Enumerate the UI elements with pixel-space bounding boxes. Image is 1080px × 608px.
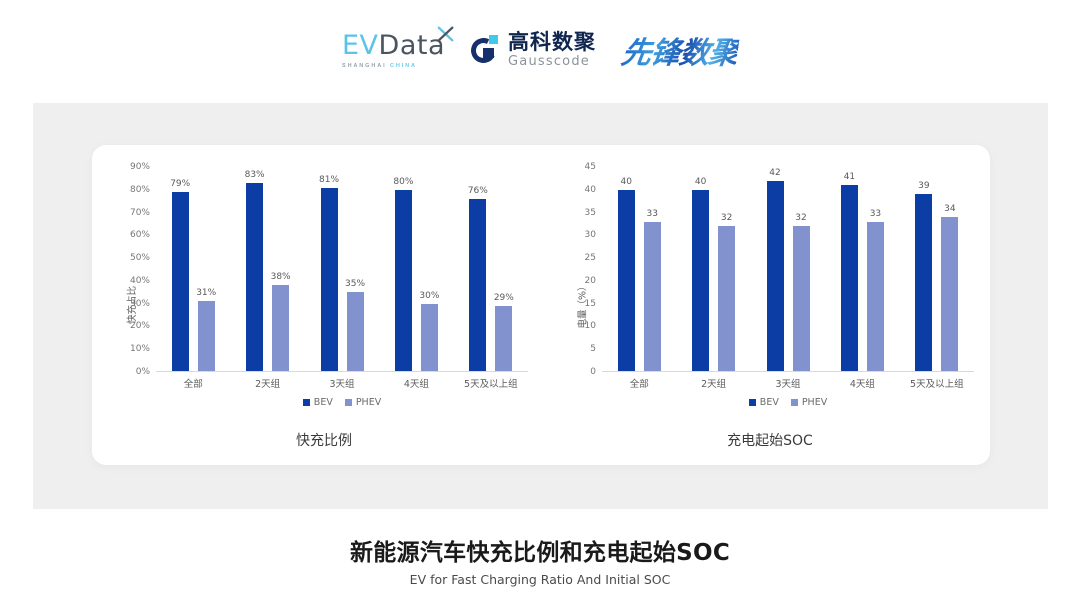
y-tick-label: 40% [130, 276, 150, 286]
x-tick-label: 5天及以上组 [900, 376, 974, 390]
bar-fill [767, 181, 784, 372]
chart-left-plot: 90%80%70%60%50%40%30%20%10%0% 79%31%83%3… [156, 167, 528, 372]
chart-right-xaxis: 全部2天组3天组4天组5天及以上组 [602, 376, 974, 390]
bar-bev[interactable]: 81% [321, 188, 338, 373]
x-tick-label: 5天及以上组 [454, 376, 528, 390]
bar-value-label: 41 [844, 172, 855, 182]
x-tick-label: 3天组 [751, 376, 825, 390]
bar-value-label: 31% [196, 288, 216, 298]
bar-value-label: 79% [170, 179, 190, 189]
bar-fill [718, 226, 735, 372]
legend-swatch-icon [345, 399, 352, 406]
y-tick-label: 70% [130, 208, 150, 218]
bar-group: 3934 [900, 167, 974, 372]
x-tick-label: 全部 [602, 376, 676, 390]
chart-left-bars: 79%31%83%38%81%35%80%30%76%29% [156, 167, 528, 372]
chart-left-legend: BEVPHEV [156, 397, 528, 408]
bar-value-label: 39 [918, 181, 929, 191]
chart-right-legend: BEVPHEV [602, 397, 974, 408]
slide-page: EVData SHANGHAI CHINA 高科数聚 Gausscode 先锋数… [0, 0, 1080, 608]
logo-xianfeng: 先锋数聚 [619, 28, 741, 72]
legend-swatch-icon [791, 399, 798, 406]
evdata-data-text: Data [379, 30, 445, 61]
evdata-tagline-china: CHINA [390, 63, 417, 69]
bar-fill [246, 183, 263, 372]
gausscode-c-mark-icon [471, 35, 501, 65]
legend-item-bev[interactable]: BEV [749, 397, 779, 408]
bar-group: 80%30% [379, 167, 453, 372]
bar-value-label: 32 [721, 213, 732, 223]
bar-fill [495, 306, 512, 372]
x-tick-label: 3天组 [305, 376, 379, 390]
y-tick-label: 25 [585, 253, 596, 263]
bar-phev[interactable]: 35% [347, 292, 364, 372]
bar-group: 76%29% [454, 167, 528, 372]
y-tick-label: 0 [590, 367, 596, 377]
page-title: 新能源汽车快充比例和充电起始SOC [0, 533, 1080, 567]
bar-group: 4033 [602, 167, 676, 372]
bar-phev[interactable]: 30% [421, 304, 438, 372]
y-tick-label: 45 [585, 162, 596, 172]
gausscode-en-text: Gausscode [508, 55, 596, 68]
x-tick-label: 4天组 [825, 376, 899, 390]
y-tick-label: 30 [585, 230, 596, 240]
bar-phev[interactable]: 34 [941, 217, 958, 372]
bar-phev[interactable]: 32 [718, 226, 735, 372]
bar-fill [867, 222, 884, 372]
legend-item-phev[interactable]: PHEV [345, 397, 381, 408]
bar-group: 4032 [676, 167, 750, 372]
bar-fill [395, 190, 412, 372]
footer: 新能源汽车快充比例和充电起始SOC EV for Fast Charging R… [0, 533, 1080, 587]
gausscode-text: 高科数聚 Gausscode [508, 32, 596, 68]
bar-fill [272, 285, 289, 372]
y-tick-label: 80% [130, 185, 150, 195]
chart-fast-charging-ratio: 快充占比 90%80%70%60%50%40%30%20%10%0% 79%31… [104, 145, 544, 465]
y-tick-label: 40 [585, 185, 596, 195]
bar-value-label: 81% [319, 175, 339, 185]
bar-group: 4232 [751, 167, 825, 372]
y-tick-label: 5 [590, 344, 596, 354]
x-mark-icon [437, 25, 455, 43]
bar-phev[interactable]: 29% [495, 306, 512, 372]
bar-bev[interactable]: 40 [692, 190, 709, 372]
legend-label: PHEV [356, 397, 381, 408]
y-tick-label: 15 [585, 299, 596, 309]
y-tick-label: 0% [136, 367, 150, 377]
bar-value-label: 29% [494, 293, 514, 303]
evdata-wordmark: EVData [342, 32, 445, 59]
x-tick-label: 全部 [156, 376, 230, 390]
bar-value-label: 38% [271, 272, 291, 282]
gausscode-cn-text: 高科数聚 [508, 32, 596, 53]
bar-fill [618, 190, 635, 372]
y-tick-label: 60% [130, 230, 150, 240]
bar-fill [692, 190, 709, 372]
bar-phev[interactable]: 38% [272, 285, 289, 372]
legend-label: BEV [314, 397, 333, 408]
bar-bev[interactable]: 40 [618, 190, 635, 372]
y-tick-label: 90% [130, 162, 150, 172]
bar-value-label: 83% [245, 170, 265, 180]
bar-phev[interactable]: 33 [867, 222, 884, 372]
legend-swatch-icon [303, 399, 310, 406]
bar-value-label: 80% [393, 177, 413, 187]
bar-bev[interactable]: 76% [469, 199, 486, 372]
bar-phev[interactable]: 32 [793, 226, 810, 372]
charts-card: 快充占比 90%80%70%60%50%40%30%20%10%0% 79%31… [92, 145, 990, 465]
y-tick-label: 10% [130, 344, 150, 354]
chart-left-caption: 快充比例 [104, 430, 544, 450]
page-subtitle: EV for Fast Charging Ratio And Initial S… [0, 572, 1080, 587]
legend-item-phev[interactable]: PHEV [791, 397, 827, 408]
bar-group: 4133 [825, 167, 899, 372]
bar-phev[interactable]: 31% [198, 301, 215, 372]
logo-evdata: EVData SHANGHAI CHINA [342, 32, 445, 69]
bar-fill [841, 185, 858, 372]
x-tick-label: 2天组 [676, 376, 750, 390]
evdata-tagline: SHANGHAI CHINA [342, 63, 417, 69]
chart-right-plot: 454035302520151050 40334032423241333934 [602, 167, 974, 372]
gausscode-dot-shape [489, 35, 498, 44]
evdata-tagline-shanghai: SHANGHAI [342, 63, 387, 69]
bar-bev[interactable]: 39 [915, 194, 932, 372]
x-tick-label: 2天组 [230, 376, 304, 390]
bar-fill [347, 292, 364, 372]
bar-fill [915, 194, 932, 372]
chart-initial-soc: 电量（%） 454035302520151050 403340324232413… [550, 145, 990, 465]
bar-value-label: 40 [695, 177, 706, 187]
chart-left-xaxis: 全部2天组3天组4天组5天及以上组 [156, 376, 528, 390]
y-tick-label: 35 [585, 208, 596, 218]
bar-bev[interactable]: 80% [395, 190, 412, 372]
bar-fill [469, 199, 486, 372]
chart-right-bars: 40334032423241333934 [602, 167, 974, 372]
bar-bev[interactable]: 42 [767, 181, 784, 372]
y-tick-label: 30% [130, 299, 150, 309]
bar-value-label: 42 [769, 168, 780, 178]
bar-bev[interactable]: 41 [841, 185, 858, 372]
bar-fill [421, 304, 438, 372]
logo-gausscode: 高科数聚 Gausscode [471, 32, 596, 68]
bar-value-label: 30% [419, 291, 439, 301]
bar-fill [198, 301, 215, 372]
y-tick-label: 20 [585, 276, 596, 286]
y-tick-label: 20% [130, 321, 150, 331]
gausscode-inner-shape [483, 48, 494, 58]
x-tick-label: 4天组 [379, 376, 453, 390]
chart-left-axis-line [156, 371, 528, 372]
bar-bev[interactable]: 79% [172, 192, 189, 372]
bar-value-label: 32 [795, 213, 806, 223]
bar-fill [941, 217, 958, 372]
legend-item-bev[interactable]: BEV [303, 397, 333, 408]
evdata-ev-text: EV [342, 30, 379, 61]
bar-fill [172, 192, 189, 372]
bar-phev[interactable]: 33 [644, 222, 661, 372]
legend-swatch-icon [749, 399, 756, 406]
legend-label: BEV [760, 397, 779, 408]
y-tick-label: 10 [585, 321, 596, 331]
bar-value-label: 33 [646, 209, 657, 219]
bar-value-label: 35% [345, 279, 365, 289]
bar-fill [321, 188, 338, 373]
bar-fill [644, 222, 661, 372]
bar-value-label: 34 [944, 204, 955, 214]
bar-value-label: 40 [620, 177, 631, 187]
bar-fill [793, 226, 810, 372]
bar-bev[interactable]: 83% [246, 183, 263, 372]
bar-value-label: 33 [870, 209, 881, 219]
chart-right-axis-line [602, 371, 974, 372]
bar-group: 83%38% [230, 167, 304, 372]
bar-group: 79%31% [156, 167, 230, 372]
bar-group: 81%35% [305, 167, 379, 372]
chart-right-caption: 充电起始SOC [550, 430, 990, 450]
logo-bar: EVData SHANGHAI CHINA 高科数聚 Gausscode 先锋数… [0, 24, 1080, 76]
legend-label: PHEV [802, 397, 827, 408]
bar-value-label: 76% [468, 186, 488, 196]
y-tick-label: 50% [130, 253, 150, 263]
